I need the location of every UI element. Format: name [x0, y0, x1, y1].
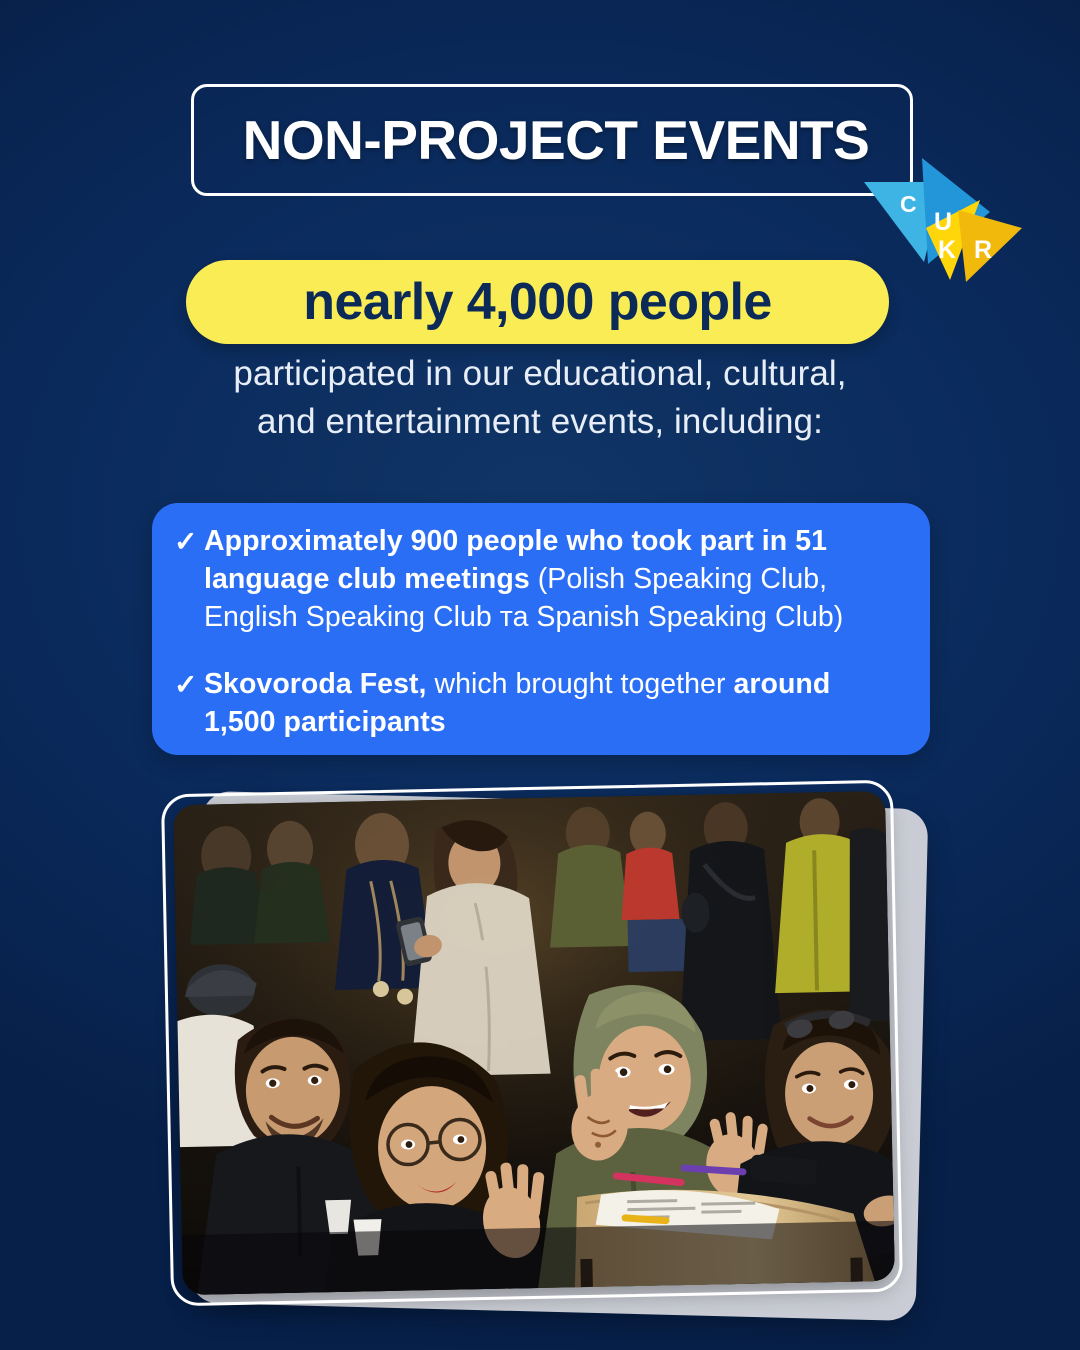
subtitle: participated in our educational, cultura…: [90, 350, 990, 445]
logo-letter-u: U: [934, 208, 952, 236]
logo-letter-k: K: [938, 236, 956, 264]
highlight-pill: nearly 4,000 people: [186, 260, 889, 344]
check-icon: ✓: [174, 666, 204, 703]
list-item: ✓ Approximately 900 people who took part…: [174, 523, 896, 637]
photo-frame-backdrop: [190, 791, 929, 1321]
bullet-2-bold-a: Skovoroda Fest,: [204, 668, 426, 700]
cukr-logo: C U K R: [862, 150, 1022, 290]
list-item: ✓ Skovoroda Fest, which brought together…: [174, 666, 896, 742]
poster-canvas: NON-PROJECT EVENTS C U K R nearly 4,000 …: [0, 0, 1080, 1350]
photo-frame-outline: [161, 780, 903, 1307]
bullet-text-2: Skovoroda Fest, which brought together a…: [204, 666, 896, 742]
subtitle-line-1: participated in our educational, cultura…: [90, 350, 990, 398]
subtitle-line-2: and entertainment events, including:: [90, 398, 990, 446]
logo-letter-c: C: [900, 191, 917, 217]
bullet-text-1: Approximately 900 people who took part i…: [204, 523, 896, 637]
bullet-2-regular: which brought together: [426, 668, 733, 700]
logo-letter-r: R: [974, 236, 992, 264]
bullet-card: ✓ Approximately 900 people who took part…: [152, 503, 930, 755]
page-title: NON-PROJECT EVENTS: [191, 84, 921, 196]
event-photo: [173, 791, 895, 1295]
highlight-pill-text: nearly 4,000 people: [303, 272, 771, 332]
check-icon: ✓: [174, 523, 204, 560]
